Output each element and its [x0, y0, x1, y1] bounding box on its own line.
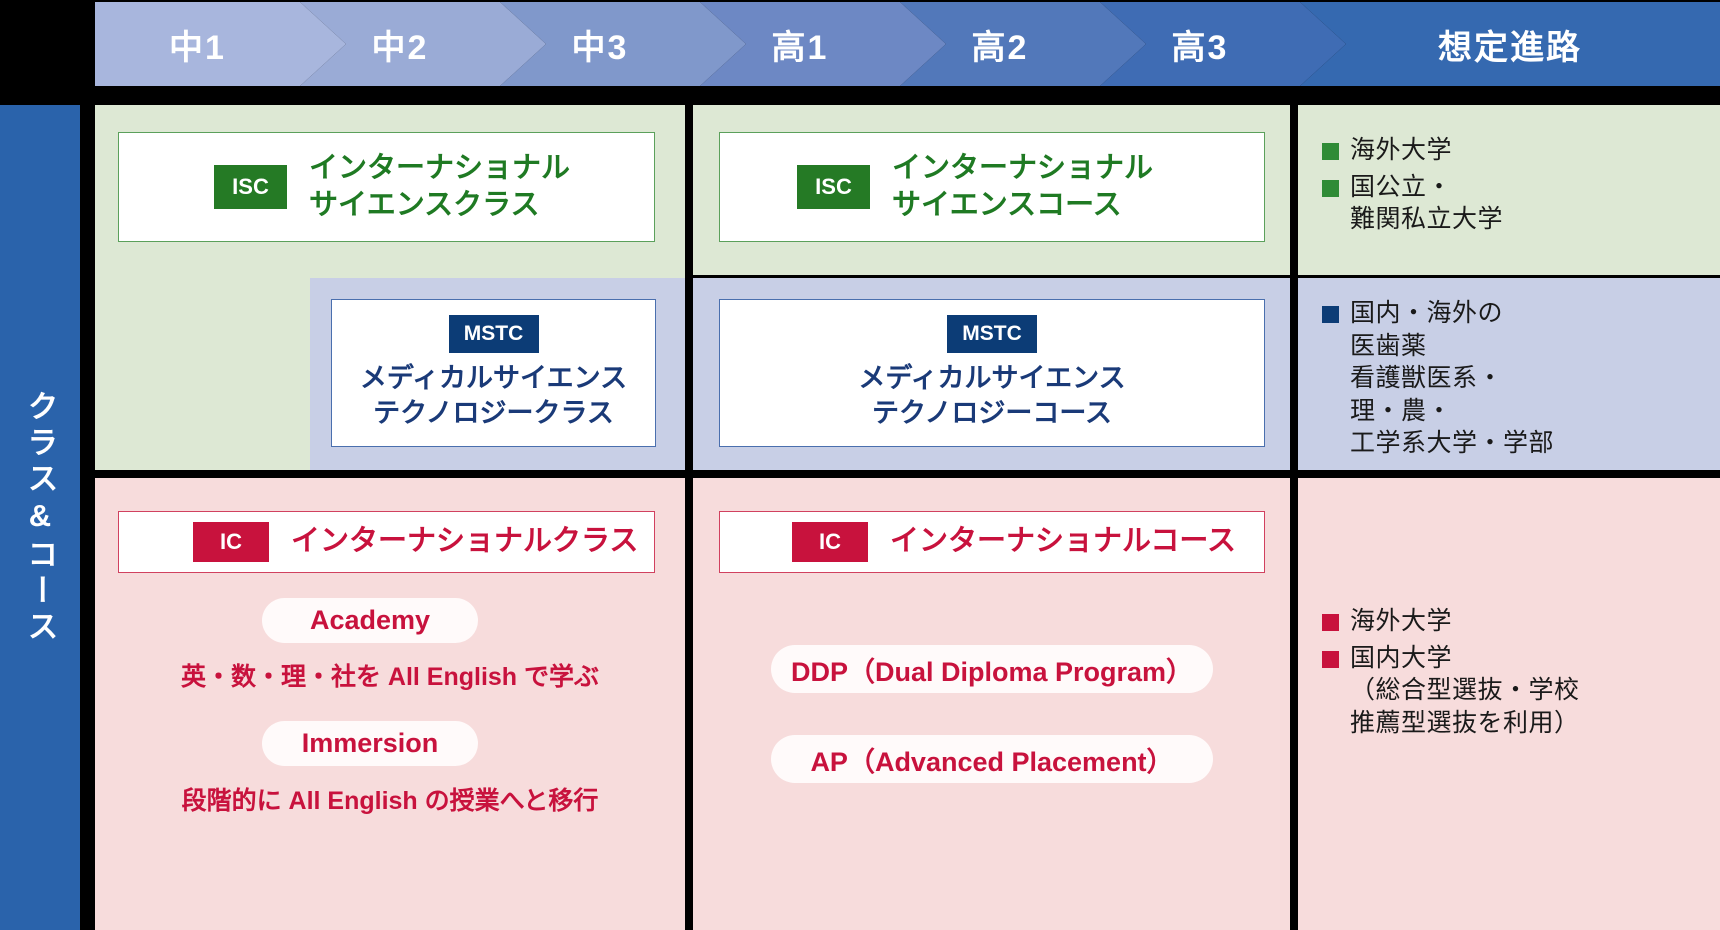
ic-junior-card[interactable]: IC インターナショナルクラス	[118, 511, 655, 573]
isc-junior-title: インターナショナル サイエンスクラス	[309, 150, 570, 224]
ic-pill-ap[interactable]: AP（Advanced Placement）	[771, 735, 1213, 783]
outcome-item: 国内・海外の 医歯薬 看護獣医系・ 理・農・ 工学系大学・学部	[1322, 297, 1712, 460]
mstc-senior-title: メディカルサイエンス テクノロジーコース	[858, 361, 1125, 430]
grade-step-6[interactable]: 想定進路	[1300, 2, 1720, 86]
grade-header: 中1 中2 中3 高1 高2 高3 想定進路	[0, 0, 1720, 90]
mstc-junior-badge-label: MSTC	[464, 322, 524, 346]
isc-senior-title-line2: サイエンスコース	[892, 187, 1153, 224]
ic-pill-ddp-label: DDP（Dual Diploma Program）	[791, 650, 1193, 689]
mstc-senior-badge: MSTC	[947, 315, 1037, 353]
outcome-item: 海外大学	[1322, 605, 1712, 638]
mstc-junior-title: メディカルサイエンス テクノロジークラス	[360, 361, 627, 430]
grade-step-label: 想定進路	[1438, 20, 1582, 69]
grade-step-4[interactable]: 高2	[900, 2, 1100, 86]
mstc-senior-card[interactable]: MSTC メディカルサイエンス テクノロジーコース	[719, 299, 1265, 447]
outcome-text: 海外大学	[1350, 134, 1452, 167]
ic-junior-title: インターナショナルクラス	[291, 523, 638, 560]
grade-step-label: 中2	[372, 20, 429, 69]
ic-pill-immersion[interactable]: Immersion	[262, 721, 478, 766]
ic-senior-title: インターナショナルコース	[890, 523, 1236, 560]
grade-step-label: 高3	[1172, 20, 1229, 69]
mstc-senior-title-line2: テクノロジーコース	[858, 396, 1125, 431]
grade-step-0[interactable]: 中1	[95, 2, 300, 86]
ic-senior-badge: IC	[792, 522, 868, 562]
mstc-senior-title-line1: メディカルサイエンス	[858, 361, 1125, 396]
isc-outcome-list: 海外大学 国公立・ 難関私立大学	[1322, 134, 1712, 240]
ic-junior-badge: IC	[193, 522, 269, 562]
flowchart-root: 中1 中2 中3 高1 高2 高3 想定進路 クラス&コース ISC インタ	[0, 0, 1720, 930]
ic-outcome-list: 海外大学 国内大学 （総合型選抜・学校 推薦型選抜を利用）	[1322, 605, 1712, 743]
ic-pill-ddp[interactable]: DDP（Dual Diploma Program）	[771, 645, 1213, 693]
grade-step-label: 高2	[972, 20, 1029, 69]
isc-junior-title-line1: インターナショナル	[309, 150, 570, 187]
bullet-square-icon	[1322, 614, 1339, 631]
outcome-text: 国内・海外の 医歯薬 看護獣医系・ 理・農・ 工学系大学・学部	[1350, 297, 1554, 460]
mstc-junior-title-line1: メディカルサイエンス	[360, 361, 627, 396]
isc-senior-title: インターナショナル サイエンスコース	[892, 150, 1153, 224]
isc-senior-badge-label: ISC	[815, 174, 852, 200]
grade-step-label: 中3	[572, 20, 629, 69]
grade-step-3[interactable]: 高1	[700, 2, 900, 86]
ic-pill-academy-label: Academy	[310, 605, 430, 636]
ic-pill-academy-caption: 英・数・理・社を All English で学ぶ	[95, 657, 685, 693]
grade-step-5[interactable]: 高3	[1100, 2, 1300, 86]
grade-step-1[interactable]: 中2	[300, 2, 500, 86]
mstc-junior-badge: MSTC	[449, 315, 539, 353]
outcome-item: 国公立・ 難関私立大学	[1322, 171, 1712, 236]
ic-pill-academy[interactable]: Academy	[262, 598, 478, 643]
ic-junior-badge-label: IC	[220, 529, 242, 555]
isc-junior-badge: ISC	[214, 165, 287, 209]
isc-junior-card[interactable]: ISC インターナショナル サイエンスクラス	[118, 132, 655, 242]
mstc-outcome-list: 国内・海外の 医歯薬 看護獣医系・ 理・農・ 工学系大学・学部	[1322, 297, 1712, 464]
grade-step-label: 中1	[169, 20, 226, 69]
isc-senior-badge: ISC	[797, 165, 870, 209]
ic-pill-immersion-label: Immersion	[302, 728, 439, 759]
bullet-square-icon	[1322, 180, 1339, 197]
outcome-text: 海外大学	[1350, 605, 1452, 638]
sidebar-class-and-course: クラス&コース	[0, 105, 80, 930]
mstc-junior-card[interactable]: MSTC メディカルサイエンス テクノロジークラス	[331, 299, 656, 447]
ic-pill-ap-label: AP（Advanced Placement）	[810, 740, 1173, 779]
outcome-text: 国内大学 （総合型選抜・学校 推薦型選抜を利用）	[1350, 642, 1580, 740]
isc-junior-title-line2: サイエンスクラス	[309, 187, 570, 224]
grade-step-2[interactable]: 中3	[500, 2, 700, 86]
grade-step-label: 高1	[772, 20, 829, 69]
outcome-text: 国公立・ 難関私立大学	[1350, 171, 1503, 236]
isc-junior-badge-label: ISC	[232, 174, 269, 200]
isc-senior-card[interactable]: ISC インターナショナル サイエンスコース	[719, 132, 1265, 242]
ic-pill-immersion-caption: 段階的に All English の授業へと移行	[95, 781, 685, 817]
ic-senior-card[interactable]: IC インターナショナルコース	[719, 511, 1265, 573]
bullet-square-icon	[1322, 651, 1339, 668]
ic-senior-badge-label: IC	[819, 529, 841, 555]
bullet-square-icon	[1322, 306, 1339, 323]
mstc-junior-title-line2: テクノロジークラス	[360, 396, 627, 431]
outcome-item: 海外大学	[1322, 134, 1712, 167]
sidebar-label: クラス&コース	[25, 390, 56, 646]
isc-senior-title-line1: インターナショナル	[892, 150, 1153, 187]
bullet-square-icon	[1322, 143, 1339, 160]
mstc-senior-badge-label: MSTC	[962, 322, 1022, 346]
outcome-item: 国内大学 （総合型選抜・学校 推薦型選抜を利用）	[1322, 642, 1712, 740]
